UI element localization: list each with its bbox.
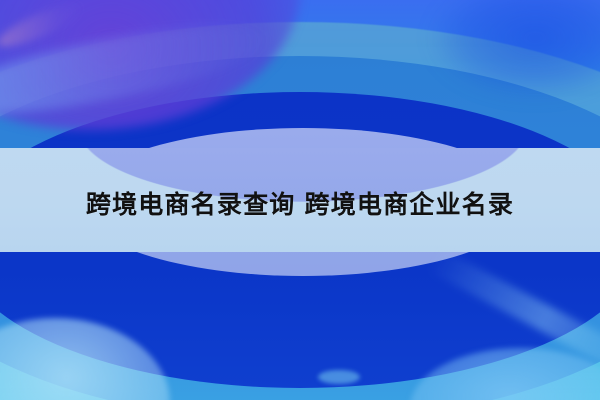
headline-text: 跨境电商名录查询跨境电商企业名录 [86, 192, 514, 217]
headline-container: 跨境电商名录查询跨境电商企业名录 [0, 180, 600, 228]
light-dot-bottom-center-shape [318, 370, 360, 384]
banner-image: 跨境电商名录查询跨境电商企业名录 [0, 0, 600, 400]
headline-part-one: 跨境电商名录查询 [86, 190, 296, 219]
headline-part-two: 跨境电商企业名录 [305, 190, 515, 219]
